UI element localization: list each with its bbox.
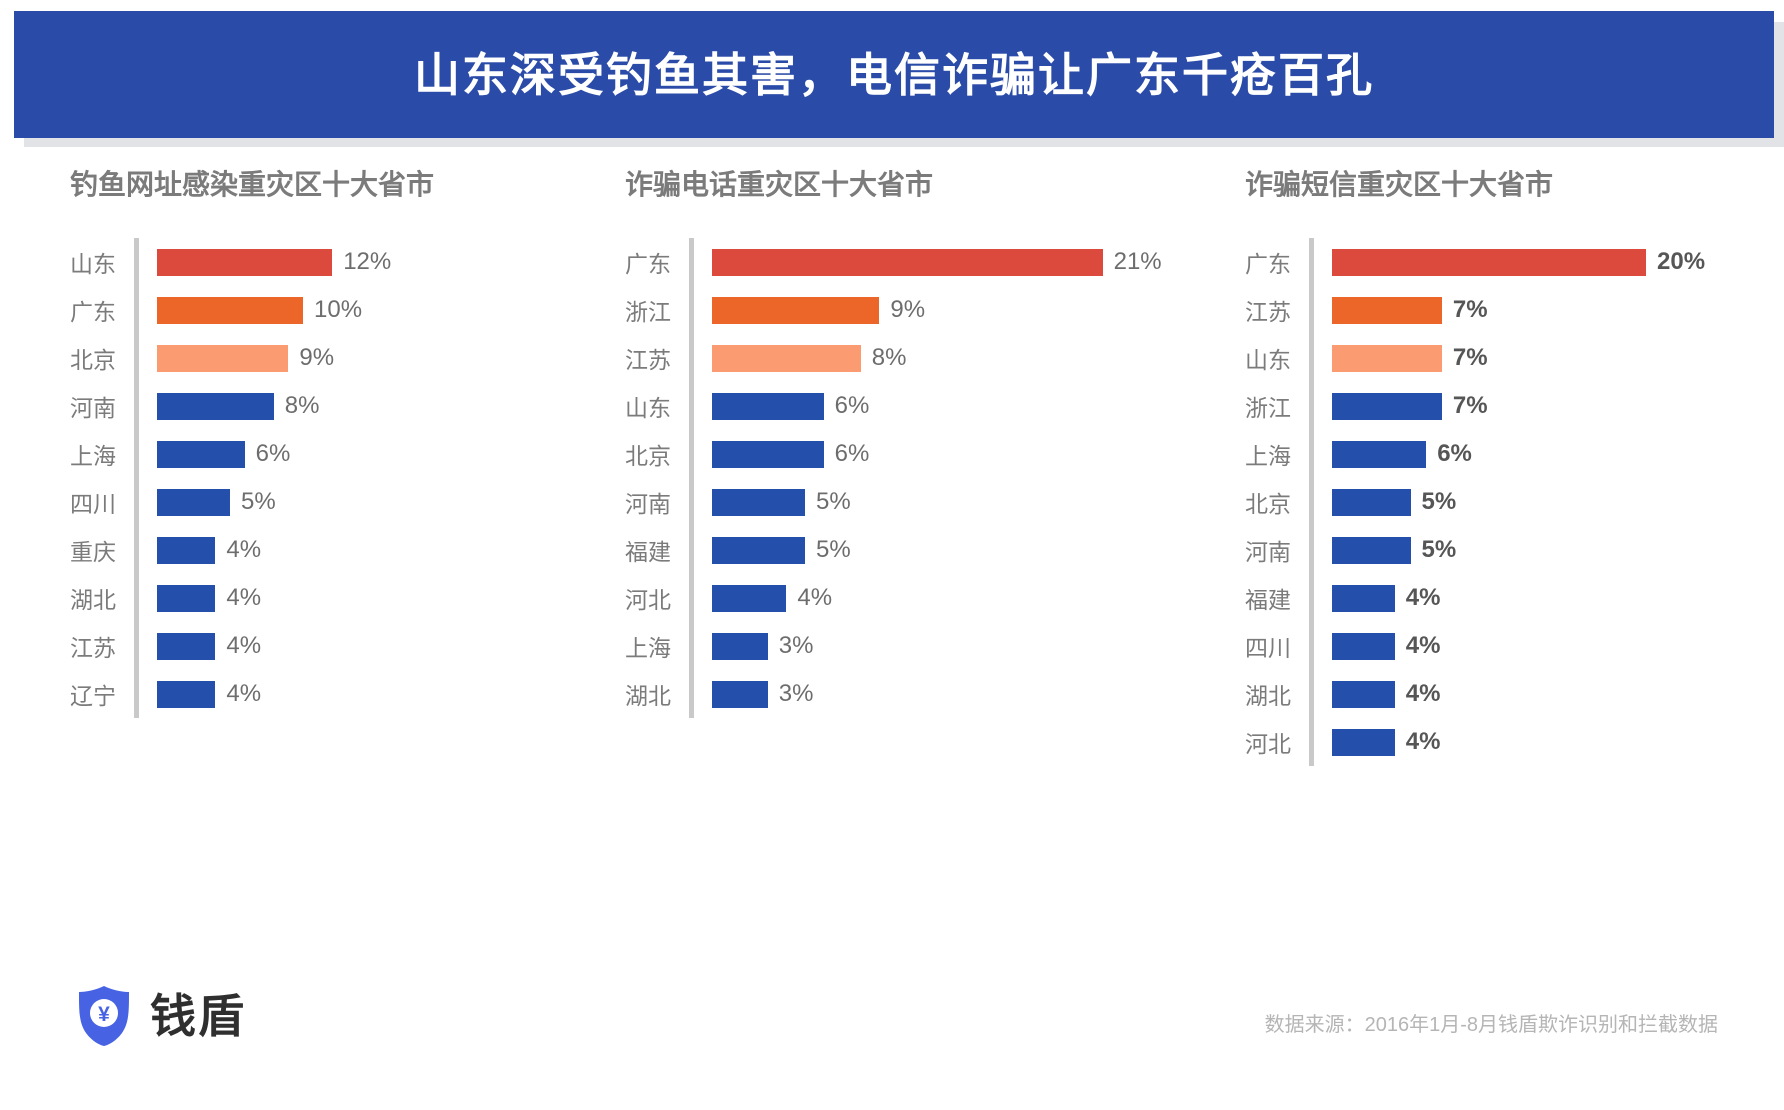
chart-plot-area: 广东21%浙江9%江苏8%山东6%北京6%河南5%福建5%河北4%上海3%湖北3… (625, 238, 1155, 718)
bar[interactable] (712, 249, 1103, 276)
chart-bar-row[interactable]: 四川4% (1245, 622, 1745, 670)
chart-bar-row[interactable]: 江苏7% (1245, 286, 1745, 334)
bar-track: 6% (703, 392, 1155, 420)
chart-rows: 广东21%浙江9%江苏8%山东6%北京6%河南5%福建5%河北4%上海3%湖北3… (625, 238, 1155, 718)
chart-bar-row[interactable]: 河北4% (1245, 718, 1745, 766)
page-footer: ¥ 钱盾 数据来源：2016年1月-8月钱盾欺诈识别和拦截数据 (0, 960, 1784, 1110)
bar-track: 5% (1323, 488, 1745, 516)
bar-category-label: 广东 (1245, 245, 1323, 279)
bar[interactable] (157, 441, 245, 468)
bar-category-label: 河南 (625, 485, 703, 519)
bar[interactable] (1332, 633, 1395, 660)
bar-value-label: 5% (241, 488, 276, 516)
chart-bar-row[interactable]: 浙江7% (1245, 382, 1745, 430)
bar-category-label: 北京 (625, 437, 703, 471)
bar[interactable] (712, 393, 824, 420)
chart-bar-row[interactable]: 山东7% (1245, 334, 1745, 382)
bar-track: 4% (1323, 632, 1745, 660)
bar-category-label: 北京 (70, 341, 148, 375)
bar-category-label: 湖北 (1245, 677, 1323, 711)
chart-title: 诈骗电话重灾区十大省市 (625, 160, 1155, 210)
bar-value-label: 6% (835, 440, 870, 468)
chart-bar-row[interactable]: 山东6% (625, 382, 1155, 430)
bar-category-label: 湖北 (625, 677, 703, 711)
bar-value-label: 7% (1453, 344, 1488, 372)
chart-rows: 山东12%广东10%北京9%河南8%上海6%四川5%重庆4%湖北4%江苏4%辽宁… (70, 238, 540, 718)
bar[interactable] (1332, 489, 1411, 516)
bar[interactable] (1332, 729, 1395, 756)
bar-value-label: 4% (797, 584, 832, 612)
bar-track: 4% (703, 584, 1155, 612)
chart-title: 钓鱼网址感染重灾区十大省市 (70, 160, 540, 210)
bar-category-label: 上海 (1245, 437, 1323, 471)
bar-track: 21% (703, 248, 1162, 276)
chart-bar-row[interactable]: 广东20% (1245, 238, 1745, 286)
chart-bar-row[interactable]: 湖北3% (625, 670, 1155, 718)
chart-bar-row[interactable]: 福建4% (1245, 574, 1745, 622)
brand-logo: ¥ 钱盾 (76, 985, 246, 1047)
bar[interactable] (157, 249, 332, 276)
bar-value-label: 6% (1437, 440, 1472, 468)
chart-bar-row[interactable]: 福建5% (625, 526, 1155, 574)
bar-track: 5% (1323, 536, 1745, 564)
bar-value-label: 20% (1657, 248, 1705, 276)
chart-bar-row[interactable]: 北京6% (625, 430, 1155, 478)
bar-track: 10% (148, 296, 540, 324)
bar-value-label: 4% (226, 632, 261, 660)
bar-track: 6% (148, 440, 540, 468)
bar-category-label: 辽宁 (70, 677, 148, 711)
chart-panel-phishing: 钓鱼网址感染重灾区十大省市山东12%广东10%北京9%河南8%上海6%四川5%重… (70, 160, 540, 718)
bar-track: 4% (1323, 584, 1745, 612)
bar-track: 6% (1323, 440, 1745, 468)
bar-category-label: 重庆 (70, 533, 148, 567)
bar[interactable] (712, 297, 879, 324)
bar-category-label: 河南 (70, 389, 148, 423)
bar[interactable] (1332, 537, 1411, 564)
bar[interactable] (1332, 249, 1646, 276)
bar-value-label: 7% (1453, 392, 1488, 420)
bar-value-label: 4% (1406, 680, 1441, 708)
chart-bar-row[interactable]: 上海6% (1245, 430, 1745, 478)
bar-value-label: 4% (1406, 584, 1441, 612)
bar-category-label: 四川 (70, 485, 148, 519)
chart-plot-area: 山东12%广东10%北京9%河南8%上海6%四川5%重庆4%湖北4%江苏4%辽宁… (70, 238, 540, 718)
bar-track: 5% (703, 536, 1155, 564)
chart-bar-row[interactable]: 江苏8% (625, 334, 1155, 382)
chart-bar-row[interactable]: 重庆4% (70, 526, 540, 574)
bar-value-label: 9% (299, 344, 334, 372)
bar-value-label: 21% (1114, 248, 1162, 276)
bar-track: 4% (148, 536, 540, 564)
bar[interactable] (157, 489, 230, 516)
page-header: 山东深受钓鱼其害，电信诈骗让广东千疮百孔 (0, 0, 1784, 160)
bar[interactable] (157, 297, 303, 324)
bar[interactable] (1332, 297, 1442, 324)
bar-category-label: 山东 (625, 389, 703, 423)
bar-track: 4% (148, 584, 540, 612)
bar[interactable] (712, 585, 786, 612)
bar-category-label: 湖北 (70, 581, 148, 615)
bar[interactable] (1332, 585, 1395, 612)
bar-value-label: 4% (1406, 632, 1441, 660)
bar[interactable] (157, 393, 274, 420)
chart-bar-row[interactable]: 河北4% (625, 574, 1155, 622)
bar-track: 3% (703, 680, 1155, 708)
bar[interactable] (157, 585, 215, 612)
chart-title: 诈骗短信重灾区十大省市 (1245, 160, 1745, 210)
bar[interactable] (712, 345, 861, 372)
bar-value-label: 5% (816, 536, 851, 564)
bar-track: 5% (703, 488, 1155, 516)
bar-value-label: 6% (835, 392, 870, 420)
chart-bar-row[interactable]: 上海3% (625, 622, 1155, 670)
bar-track: 12% (148, 248, 540, 276)
chart-bar-row[interactable]: 河南5% (1245, 526, 1745, 574)
bar[interactable] (1332, 345, 1442, 372)
bar-category-label: 山东 (1245, 341, 1323, 375)
chart-bar-row[interactable]: 北京9% (70, 334, 540, 382)
bar-value-label: 8% (872, 344, 907, 372)
bar-track: 7% (1323, 344, 1745, 372)
bar-value-label: 8% (285, 392, 320, 420)
bar[interactable] (712, 633, 768, 660)
bar[interactable] (157, 633, 215, 660)
bar[interactable] (712, 489, 805, 516)
bar[interactable] (712, 537, 805, 564)
bar[interactable] (712, 681, 768, 708)
bar-category-label: 浙江 (1245, 389, 1323, 423)
data-source-note: 数据来源：2016年1月-8月钱盾欺诈识别和拦截数据 (1265, 1008, 1718, 1037)
bar-value-label: 4% (226, 680, 261, 708)
chart-bar-row[interactable]: 四川5% (70, 478, 540, 526)
header-banner: 山东深受钓鱼其害，电信诈骗让广东千疮百孔 (14, 11, 1774, 138)
bar[interactable] (157, 681, 215, 708)
bar[interactable] (157, 345, 288, 372)
bar-category-label: 福建 (625, 533, 703, 567)
bar-value-label: 5% (1422, 536, 1457, 564)
bar-category-label: 福建 (1245, 581, 1323, 615)
bar-category-label: 江苏 (625, 341, 703, 375)
chart-bar-row[interactable]: 浙江9% (625, 286, 1155, 334)
chart-bar-row[interactable]: 河南8% (70, 382, 540, 430)
brand-name: 钱盾 (150, 993, 246, 1039)
bar-category-label: 广东 (70, 293, 148, 327)
chart-panel-calls: 诈骗电话重灾区十大省市广东21%浙江9%江苏8%山东6%北京6%河南5%福建5%… (625, 160, 1155, 718)
bar-track: 9% (148, 344, 540, 372)
chart-bar-row[interactable]: 上海6% (70, 430, 540, 478)
bar-track: 20% (1323, 248, 1745, 276)
bar-track: 8% (703, 344, 1155, 372)
bar[interactable] (712, 441, 824, 468)
bar-value-label: 5% (1422, 488, 1457, 516)
bar-category-label: 北京 (1245, 485, 1323, 519)
bar-track: 5% (148, 488, 540, 516)
bar-track: 3% (703, 632, 1155, 660)
chart-bar-row[interactable]: 江苏4% (70, 622, 540, 670)
bar-category-label: 江苏 (1245, 293, 1323, 327)
bar-track: 4% (1323, 728, 1745, 756)
bar[interactable] (1332, 681, 1395, 708)
bar-category-label: 江苏 (70, 629, 148, 663)
chart-bar-row[interactable]: 广东21% (625, 238, 1155, 286)
chart-panel-sms: 诈骗短信重灾区十大省市广东20%江苏7%山东7%浙江7%上海6%北京5%河南5%… (1245, 160, 1745, 766)
svg-text:¥: ¥ (98, 1003, 110, 1026)
bar-track: 7% (1323, 392, 1745, 420)
bar-value-label: 7% (1453, 296, 1488, 324)
bar-value-label: 12% (343, 248, 391, 276)
bar-value-label: 4% (226, 584, 261, 612)
bar-value-label: 6% (256, 440, 291, 468)
bar[interactable] (157, 537, 215, 564)
chart-plot-area: 广东20%江苏7%山东7%浙江7%上海6%北京5%河南5%福建4%四川4%湖北4… (1245, 238, 1745, 766)
bar-category-label: 上海 (625, 629, 703, 663)
chart-bar-row[interactable]: 广东10% (70, 286, 540, 334)
bar-category-label: 上海 (70, 437, 148, 471)
bar[interactable] (1332, 441, 1426, 468)
page-title: 山东深受钓鱼其害，电信诈骗让广东千疮百孔 (414, 52, 1374, 98)
bar-category-label: 浙江 (625, 293, 703, 327)
charts-container: 钓鱼网址感染重灾区十大省市山东12%广东10%北京9%河南8%上海6%四川5%重… (0, 160, 1784, 960)
chart-bar-row[interactable]: 山东12% (70, 238, 540, 286)
bar-track: 4% (1323, 680, 1745, 708)
chart-bar-row[interactable]: 湖北4% (70, 574, 540, 622)
bar-category-label: 四川 (1245, 629, 1323, 663)
bar-category-label: 河南 (1245, 533, 1323, 567)
bar-track: 8% (148, 392, 540, 420)
bar-track: 6% (703, 440, 1155, 468)
bar-value-label: 3% (779, 680, 814, 708)
bar-category-label: 河北 (625, 581, 703, 615)
bar-value-label: 3% (779, 632, 814, 660)
bar[interactable] (1332, 393, 1442, 420)
bar-category-label: 山东 (70, 245, 148, 279)
bar-value-label: 5% (816, 488, 851, 516)
bar-track: 9% (703, 296, 1155, 324)
bar-track: 7% (1323, 296, 1745, 324)
chart-rows: 广东20%江苏7%山东7%浙江7%上海6%北京5%河南5%福建4%四川4%湖北4… (1245, 238, 1745, 766)
chart-bar-row[interactable]: 湖北4% (1245, 670, 1745, 718)
bar-category-label: 河北 (1245, 725, 1323, 759)
chart-bar-row[interactable]: 河南5% (625, 478, 1155, 526)
chart-bar-row[interactable]: 北京5% (1245, 478, 1745, 526)
bar-track: 4% (148, 632, 540, 660)
bar-value-label: 4% (226, 536, 261, 564)
bar-value-label: 4% (1406, 728, 1441, 756)
bar-category-label: 广东 (625, 245, 703, 279)
bar-value-label: 10% (314, 296, 362, 324)
bar-track: 4% (148, 680, 540, 708)
shield-yuan-icon: ¥ (76, 985, 132, 1047)
chart-bar-row[interactable]: 辽宁4% (70, 670, 540, 718)
bar-value-label: 9% (890, 296, 925, 324)
